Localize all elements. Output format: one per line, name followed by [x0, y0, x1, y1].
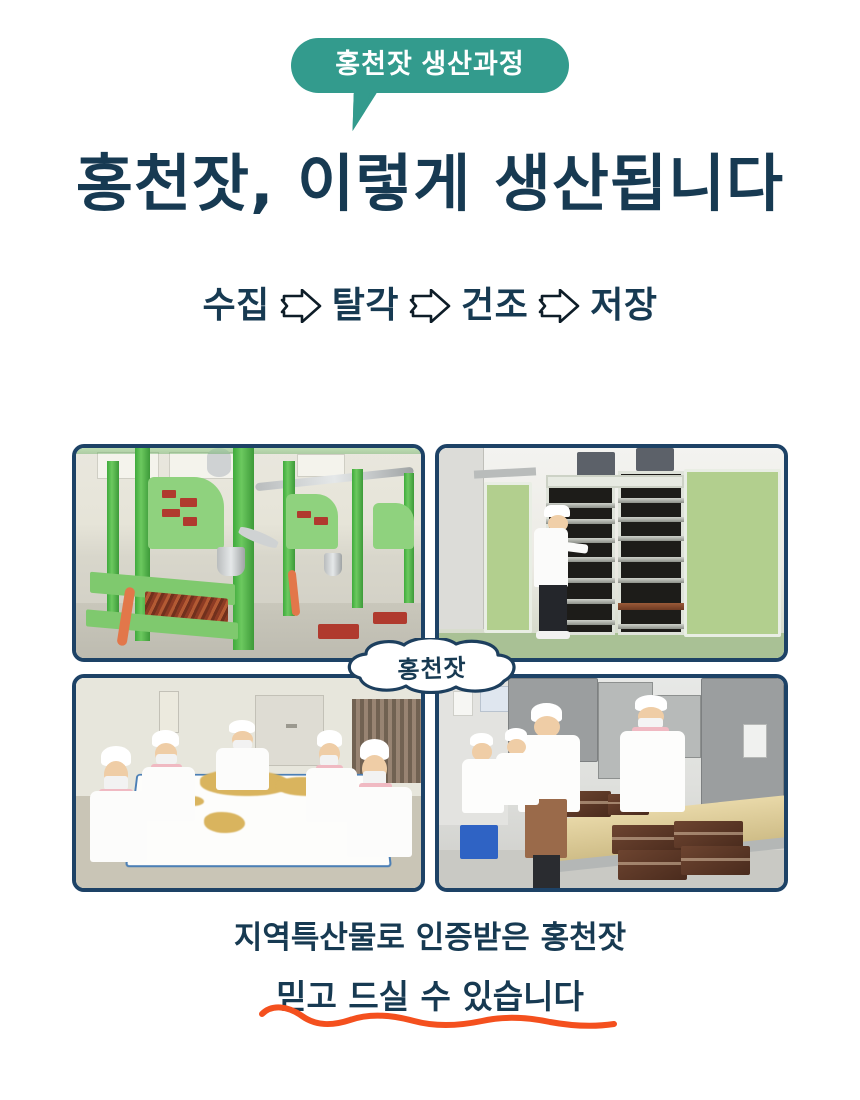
- wavy-underline-icon: [258, 1000, 618, 1034]
- footer-line-1: 지역특산물로 인증받은 홍천잣: [0, 920, 860, 957]
- hongcheon-pine-nut-cloud-badge: 홍천잣: [336, 638, 528, 694]
- poster-root: 홍천잣 생산과정 홍천잣, 이렇게 생산됩니다 수집 탈각 건조 저장: [0, 0, 860, 1100]
- speech-bubble-tail-icon: [345, 93, 377, 131]
- process-step-4: 저장: [590, 288, 657, 324]
- process-flow: 수집 탈각 건조 저장: [0, 286, 860, 326]
- production-process-badge: 홍천잣 생산과정: [291, 38, 568, 93]
- page-title: 홍천잣, 이렇게 생산됩니다: [0, 148, 860, 219]
- photo-sorting: [72, 674, 425, 892]
- badge-container: 홍천잣 생산과정: [0, 38, 860, 93]
- photo-packaging: [435, 674, 788, 892]
- cloud-badge-label: 홍천잣: [335, 646, 528, 688]
- photo-shelling: [72, 444, 425, 662]
- photo-drying: [435, 444, 788, 662]
- process-step-2: 탈각: [332, 288, 399, 324]
- arrow-right-icon: [280, 286, 322, 326]
- badge-label: 홍천잣 생산과정: [335, 49, 524, 79]
- arrow-right-icon: [409, 286, 451, 326]
- arrow-right-icon: [538, 286, 580, 326]
- process-step-1: 수집: [203, 288, 270, 324]
- process-step-3: 건조: [461, 288, 528, 324]
